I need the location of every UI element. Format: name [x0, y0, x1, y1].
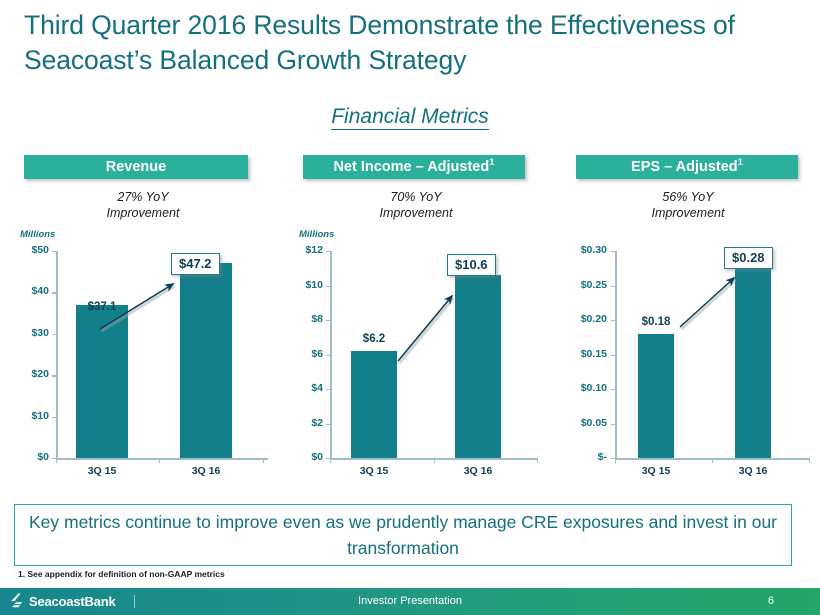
metric-banner-label: Revenue — [106, 159, 166, 175]
key-message-box: Key metrics continue to improve even as … — [14, 504, 792, 566]
metric-subtitle-line2: Improvement — [562, 205, 814, 221]
page-number: 6 — [768, 588, 774, 615]
x-axis-line — [56, 458, 268, 460]
metric-banner-superscript: 1 — [489, 157, 494, 168]
bar-chart-revenue: Millions $50 $40 $30 $20 $10 $0 — [14, 235, 272, 485]
metric-banner-eps: EPS – Adjusted1 — [576, 155, 798, 179]
key-message-text: Key metrics continue to improve even as … — [15, 509, 791, 561]
bar-data-label-3q15: $0.18 — [620, 316, 692, 328]
bar-data-label-3q15: $6.2 — [338, 333, 410, 345]
bars-container — [562, 251, 814, 458]
x-tick-label-3q15: 3Q 15 — [620, 465, 692, 477]
bar-callout-3q16: $10.6 — [447, 254, 496, 276]
plot-area: $0.30 $0.25 $0.20 $0.15 $0.10 $0.05 $- — [562, 243, 814, 485]
metric-subtitle-eps: 56% YoY Improvement — [562, 189, 814, 221]
section-title-text: Financial Metrics — [331, 105, 489, 130]
metric-subtitle-line1: 56% YoY — [562, 189, 814, 205]
metric-banner-superscript: 1 — [738, 157, 743, 168]
metric-banner-revenue: Revenue — [24, 155, 248, 179]
footnote-text: 1. See appendix for definition of non-GA… — [18, 569, 225, 579]
x-tick — [159, 458, 160, 463]
metric-subtitle-line2: Improvement — [290, 205, 542, 221]
x-tick-label-3q16: 3Q 16 — [717, 465, 789, 477]
bar-3q16 — [180, 263, 232, 458]
slide-footer: SeacoastBank Investor Presentation 6 — [0, 588, 820, 615]
x-tick-label-3q15: 3Q 15 — [66, 465, 138, 477]
bars-container — [290, 251, 542, 458]
x-tick — [263, 458, 264, 463]
x-tick — [56, 458, 57, 463]
x-tick — [809, 458, 810, 463]
x-tick — [537, 458, 538, 463]
footer-title: Investor Presentation — [0, 588, 820, 615]
section-title: Financial Metrics — [0, 105, 820, 129]
bar-callout-3q16: $47.2 — [171, 253, 220, 275]
metric-banner-net-income: Net Income – Adjusted1 — [303, 155, 525, 179]
bar-chart-net-income: Millions $12 $10 $8 $6 $4 $2 $0 — [290, 235, 542, 485]
y-axis-units-label: Millions — [20, 229, 55, 240]
metric-panel-eps: EPS – Adjusted1 56% YoY Improvement $0.3… — [562, 155, 814, 485]
bar-3q16 — [455, 275, 501, 458]
plot-area: $12 $10 $8 $6 $4 $2 $0 — [290, 243, 542, 485]
y-axis-units-label: Millions — [299, 229, 334, 240]
x-tick-label-3q16: 3Q 16 — [170, 465, 242, 477]
x-tick — [712, 458, 713, 463]
metric-banner-label: Net Income – Adjusted — [333, 159, 489, 175]
metric-panel-net-income: Net Income – Adjusted1 70% YoY Improveme… — [290, 155, 542, 485]
x-tick — [434, 458, 435, 463]
slide-root: Third Quarter 2016 Results Demonstrate t… — [0, 0, 820, 615]
x-tick — [330, 458, 331, 463]
page-title: Third Quarter 2016 Results Demonstrate t… — [24, 8, 814, 78]
bar-3q16 — [735, 265, 771, 458]
metric-subtitle-line1: 70% YoY — [290, 189, 542, 205]
metric-banner-label: EPS – Adjusted — [631, 159, 738, 175]
bar-3q15 — [351, 351, 397, 458]
bar-chart-eps: $0.30 $0.25 $0.20 $0.15 $0.10 $0.05 $- — [562, 235, 814, 485]
metric-subtitle-line2: Improvement — [14, 205, 272, 221]
bar-3q15 — [638, 334, 674, 458]
plot-area: $50 $40 $30 $20 $10 $0 — [14, 243, 272, 485]
x-tick — [615, 458, 616, 463]
x-tick-label-3q15: 3Q 15 — [338, 465, 410, 477]
metric-subtitle-net-income: 70% YoY Improvement — [290, 189, 542, 221]
x-tick-label-3q16: 3Q 16 — [442, 465, 514, 477]
metric-panel-revenue: Revenue 27% YoY Improvement Millions $50… — [14, 155, 272, 485]
bar-3q15 — [76, 305, 128, 459]
bars-container — [14, 251, 272, 458]
bar-callout-3q16: $0.28 — [724, 247, 773, 269]
metric-subtitle-line1: 27% YoY — [14, 189, 272, 205]
bar-data-label-3q15: $37.1 — [66, 301, 138, 313]
metric-subtitle-revenue: 27% YoY Improvement — [14, 189, 272, 221]
